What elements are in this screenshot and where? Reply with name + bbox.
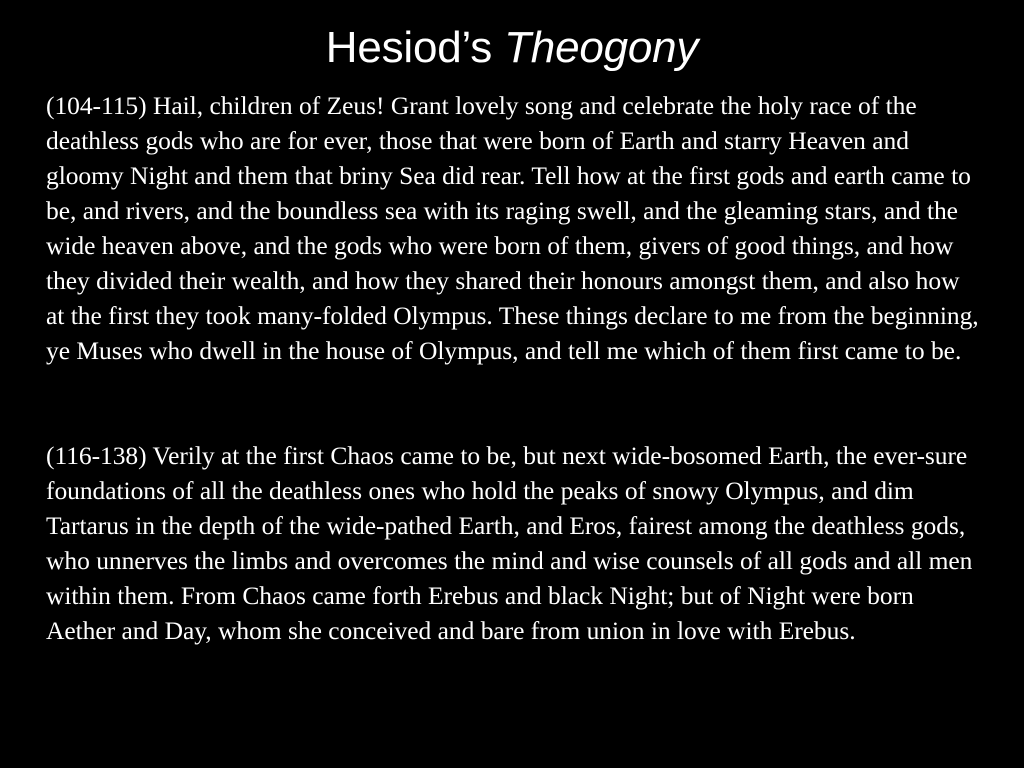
- paragraph-spacer: [46, 368, 982, 438]
- page-title: Hesiod’s Theogony: [0, 22, 1024, 74]
- title-work-part: Theogony: [504, 23, 698, 72]
- passage-paragraph-104-115: (104-115) Hail, children of Zeus! Grant …: [46, 88, 982, 368]
- passage-paragraph-116-138: (116-138) Verily at the first Chaos came…: [46, 438, 982, 648]
- slide-body: (104-115) Hail, children of Zeus! Grant …: [46, 88, 982, 648]
- presentation-slide: Hesiod’s Theogony (104-115) Hail, childr…: [0, 0, 1024, 768]
- title-author-part: Hesiod’s: [326, 23, 504, 72]
